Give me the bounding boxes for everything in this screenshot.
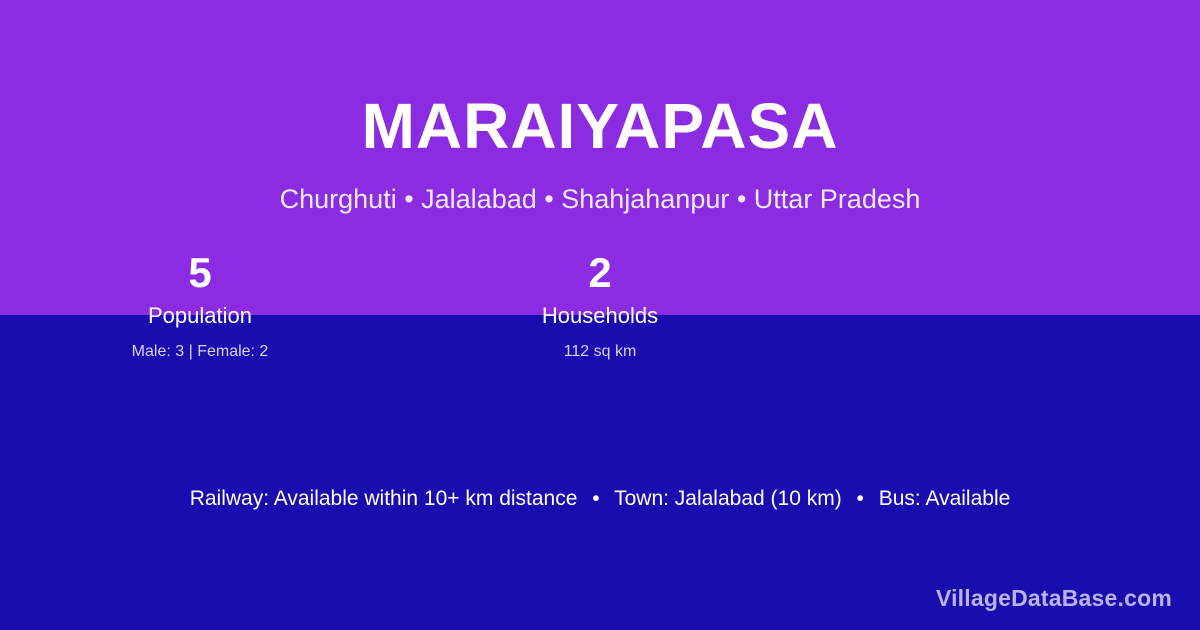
stat-households: 2 Households 112 sq km [400,248,800,364]
amenity-separator-2: • [848,487,873,510]
stats-row: 5 Population Male: 3 | Female: 2 2 House… [0,248,1200,364]
village-info-card: MARAIYAPASA Churghuti • Jalalabad • Shah… [0,0,1200,630]
households-value: 2 [400,248,800,298]
amenity-railway: Railway: Available within 10+ km distanc… [190,487,578,510]
stat-population: 5 Population Male: 3 | Female: 2 [0,248,400,364]
amenity-town: Town: Jalalabad (10 km) [614,487,842,510]
population-breakdown: Male: 3 | Female: 2 [0,340,400,364]
amenity-bus: Bus: Available [879,487,1011,510]
page-title: MARAIYAPASA [0,88,1200,164]
area-value: 112 sq km [400,340,800,364]
site-brand: VillageDataBase.com [936,585,1172,612]
amenity-separator-1: • [583,487,608,510]
population-label: Population [0,300,400,332]
population-value: 5 [0,248,400,298]
breadcrumb: Churghuti • Jalalabad • Shahjahanpur • U… [0,182,1200,216]
amenities-row: Railway: Available within 10+ km distanc… [0,484,1200,514]
households-label: Households [400,300,800,332]
